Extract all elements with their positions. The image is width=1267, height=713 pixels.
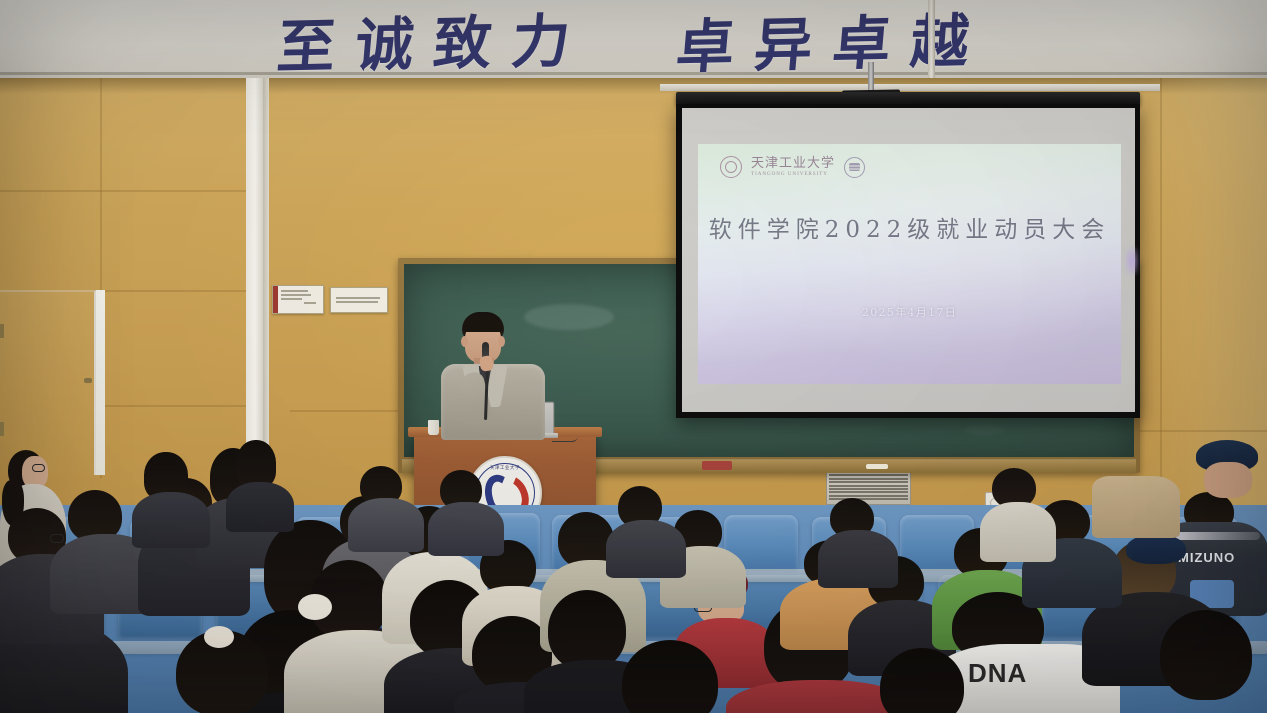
audience-member (176, 630, 296, 713)
audience-member (228, 440, 286, 512)
notice-sign-left (272, 285, 324, 314)
door-hinge-icon (0, 422, 4, 436)
wall-pilaster-edge (263, 78, 269, 478)
ceiling-seam (0, 72, 1267, 75)
presenter-ear-left (461, 336, 468, 347)
audience-member (616, 640, 746, 713)
audience-member (1190, 440, 1267, 520)
slide-glare (698, 144, 1121, 384)
wall-pilaster (246, 78, 264, 478)
sign-text-lines (281, 290, 320, 306)
side-door[interactable] (0, 290, 96, 475)
sign-accent-bar (273, 286, 278, 313)
presenter-ear-right (498, 336, 505, 347)
school-badge-icon (844, 157, 865, 178)
laptop-cable (552, 436, 578, 442)
audience-member (880, 648, 990, 713)
sign-text-lines (336, 297, 384, 305)
audience-member (608, 486, 678, 562)
lecture-hall-photo: 至诚致力 卓异卓越 (0, 0, 1267, 713)
screen-reflection-spot (1126, 248, 1138, 274)
wall-panel-seam (290, 410, 410, 412)
university-seal-icon (720, 156, 742, 178)
university-name-cn: 天津工业大学 (751, 157, 835, 171)
notice-sign-right (330, 287, 388, 313)
wall-panel-seam (0, 190, 250, 192)
audience-member (432, 470, 496, 540)
presenter (438, 312, 550, 440)
presenter-hand (479, 355, 494, 372)
banner-divider (928, 0, 935, 78)
audience-member (1092, 466, 1172, 546)
audience-member (136, 452, 200, 532)
door-hinge-icon (0, 324, 4, 338)
chalk-stick[interactable] (866, 464, 888, 469)
door-gap (96, 290, 105, 475)
wall-panel-seam (1160, 78, 1162, 518)
presentation-slide: 天津工业大学 TIANGONG UNIVERSITY 软件学院2022级就业动员… (698, 144, 1121, 384)
ceiling (0, 0, 1267, 80)
blackboard-eraser[interactable] (702, 461, 732, 470)
slide-date: 2025年4月17日 (698, 304, 1121, 320)
slide-logo-group: 天津工业大学 TIANGONG UNIVERSITY (720, 156, 865, 178)
audience-member (352, 466, 416, 536)
audience-member (820, 498, 890, 574)
audience-member (980, 468, 1050, 548)
door-handle[interactable] (84, 378, 92, 383)
screen-mount-bar (660, 84, 1160, 91)
slide-title: 软件学院2022级就业动员大会 (698, 210, 1121, 244)
presenter-fringe (463, 318, 503, 332)
projection-screen-surface: 天津工业大学 TIANGONG UNIVERSITY 软件学院2022级就业动员… (682, 108, 1135, 412)
audience-member (1160, 610, 1267, 713)
projection-screen: 天津工业大学 TIANGONG UNIVERSITY 软件学院2022级就业动员… (676, 104, 1140, 418)
university-name-en: TIANGONG UNIVERSITY (751, 171, 835, 177)
